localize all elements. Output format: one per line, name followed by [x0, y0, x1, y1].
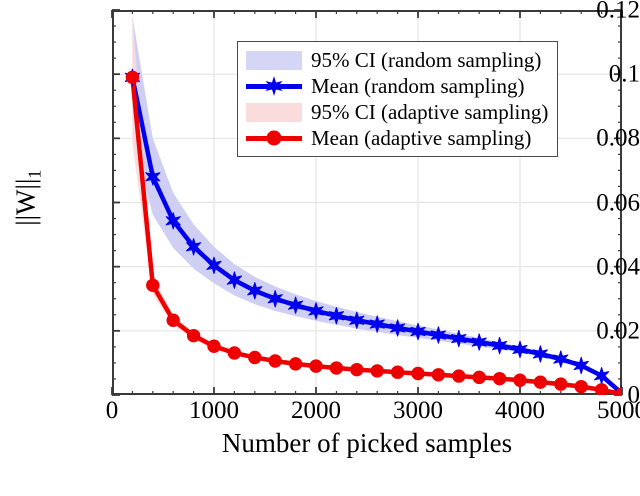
y-tick-label: 0.04	[540, 254, 640, 279]
y-tick-label: 0.02	[540, 318, 640, 343]
y-axis-title: ||W||1	[10, 108, 45, 288]
legend-patch-swatch	[244, 102, 304, 122]
chart-figure: 00.020.040.060.080.10.12 010002000300040…	[0, 0, 640, 496]
y-axis-title-base: ||W||	[10, 179, 40, 226]
legend-line-swatch	[244, 128, 304, 148]
legend-item[interactable]: Mean (adaptive sampling)	[244, 125, 548, 151]
y-tick-label: 0.12	[540, 0, 640, 23]
y-axis-title-subscript: 1	[25, 170, 45, 179]
legend-item[interactable]: 95% CI (adaptive sampling)	[244, 99, 548, 125]
ci-band-swatch	[246, 103, 302, 122]
chart-legend: 95% CI (random sampling)Mean (random sam…	[237, 41, 558, 157]
legend-item[interactable]: 95% CI (random sampling)	[244, 47, 548, 73]
legend-line-swatch	[244, 76, 304, 96]
legend-item[interactable]: Mean (random sampling)	[244, 73, 548, 99]
legend-label: Mean (adaptive sampling)	[311, 128, 531, 149]
legend-label: 95% CI (adaptive sampling)	[311, 102, 548, 123]
legend-patch-swatch	[244, 50, 304, 70]
y-tick-label: 0.06	[540, 190, 640, 215]
star-marker-icon	[261, 73, 287, 99]
ci-band-swatch	[246, 51, 302, 70]
legend-label: Mean (random sampling)	[311, 76, 524, 97]
x-tick-label: 5000	[552, 398, 640, 423]
x-axis-title: Number of picked samples	[112, 428, 622, 459]
circle-marker-icon	[261, 125, 287, 151]
legend-label: 95% CI (random sampling)	[311, 50, 541, 71]
